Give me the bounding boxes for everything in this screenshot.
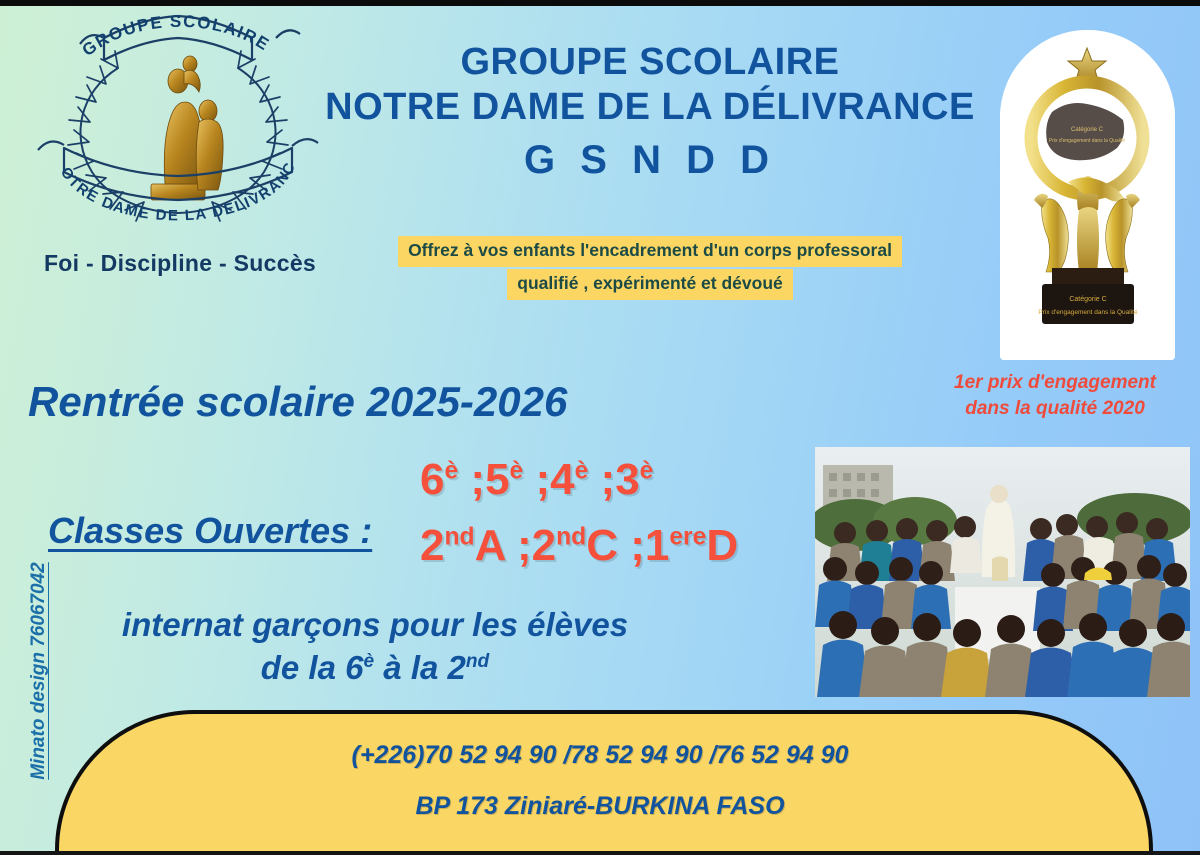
tagline-line-2: qualifié , expérimenté et dévoué xyxy=(507,269,793,300)
poster-root: GROUPE SCOLAIRE NOTRE DAME DE LA DELIVRA… xyxy=(0,0,1200,855)
designer-credit: Minato design 76067042 xyxy=(28,546,50,796)
boarding-sup-1: è xyxy=(363,651,374,672)
classes-open-label: Classes Ouvertes : xyxy=(48,510,372,552)
bottom-edge-strip xyxy=(0,851,1200,855)
trophy-map-text-2: Prix d'engagement dans la Qualité xyxy=(1049,138,1125,144)
students-photo xyxy=(815,447,1190,697)
school-year-heading: Rentrée scolaire 2025-2026 xyxy=(28,378,567,426)
school-logo: GROUPE SCOLAIRE NOTRE DAME DE LA DELIVRA… xyxy=(18,8,338,238)
contact-footer-text: (+226)70 52 94 90 /78 52 94 90 /76 52 94… xyxy=(55,743,1145,845)
trophy-map-text-1: Catégorie C xyxy=(1071,127,1104,133)
school-motto: Foi - Discipline - Succès xyxy=(30,250,330,277)
title-acronym: G S N D D xyxy=(300,138,1000,183)
logo-top-banner-text: GROUPE SCOLAIRE xyxy=(79,12,273,60)
trophy-caption-line-1: 1er prix d'engagement xyxy=(918,370,1192,396)
boarding-line-1: internat garçons pour les élèves xyxy=(30,604,720,647)
trophy-caption-line-2: dans la qualité 2020 xyxy=(918,396,1192,422)
contact-phones: (+226)70 52 94 90 /78 52 94 90 /76 52 94… xyxy=(55,743,1145,768)
trophy-plaque-line-2: Prix d'engagement dans la Qualité xyxy=(1038,309,1138,316)
classes-list: 6è ;5è ;4è ;3è 2ndA ;2ndC ;1ereD xyxy=(420,458,840,568)
tagline-line-1: Offrez à vos enfants l'encadrement d'un … xyxy=(398,236,902,267)
title-line-1: GROUPE SCOLAIRE xyxy=(300,40,1000,85)
title-line-2: NOTRE DAME DE LA DÉLIVRANCE xyxy=(300,85,1000,130)
trophy-photo: Catégorie C Prix d'engagement dans la Qu… xyxy=(1000,30,1175,360)
boarding-line-2-mid: à la 2 xyxy=(374,649,466,686)
boarding-line-2-pre: de la 6 xyxy=(261,649,364,686)
contact-address: BP 173 Ziniaré-BURKINA FASO xyxy=(55,794,1145,819)
classes-row-2: 2ndA ;2ndC ;1ereD xyxy=(420,524,840,568)
classes-row-1: 6è ;5è ;4è ;3è xyxy=(420,458,840,502)
top-edge-strip xyxy=(0,0,1200,6)
boarding-info: internat garçons pour les élèves de la 6… xyxy=(30,604,720,690)
trophy-caption: 1er prix d'engagement dans la qualité 20… xyxy=(918,370,1192,421)
boarding-sup-2: nd xyxy=(466,651,489,672)
tagline-banner: Offrez à vos enfants l'encadrement d'un … xyxy=(330,236,970,302)
school-title-block: GROUPE SCOLAIRE NOTRE DAME DE LA DÉLIVRA… xyxy=(300,40,1000,183)
trophy-plaque-line-1: Catégorie C xyxy=(1069,296,1106,303)
boarding-line-2: de la 6è à la 2nd xyxy=(30,647,720,690)
svg-text:GROUPE SCOLAIRE: GROUPE SCOLAIRE xyxy=(79,12,273,60)
